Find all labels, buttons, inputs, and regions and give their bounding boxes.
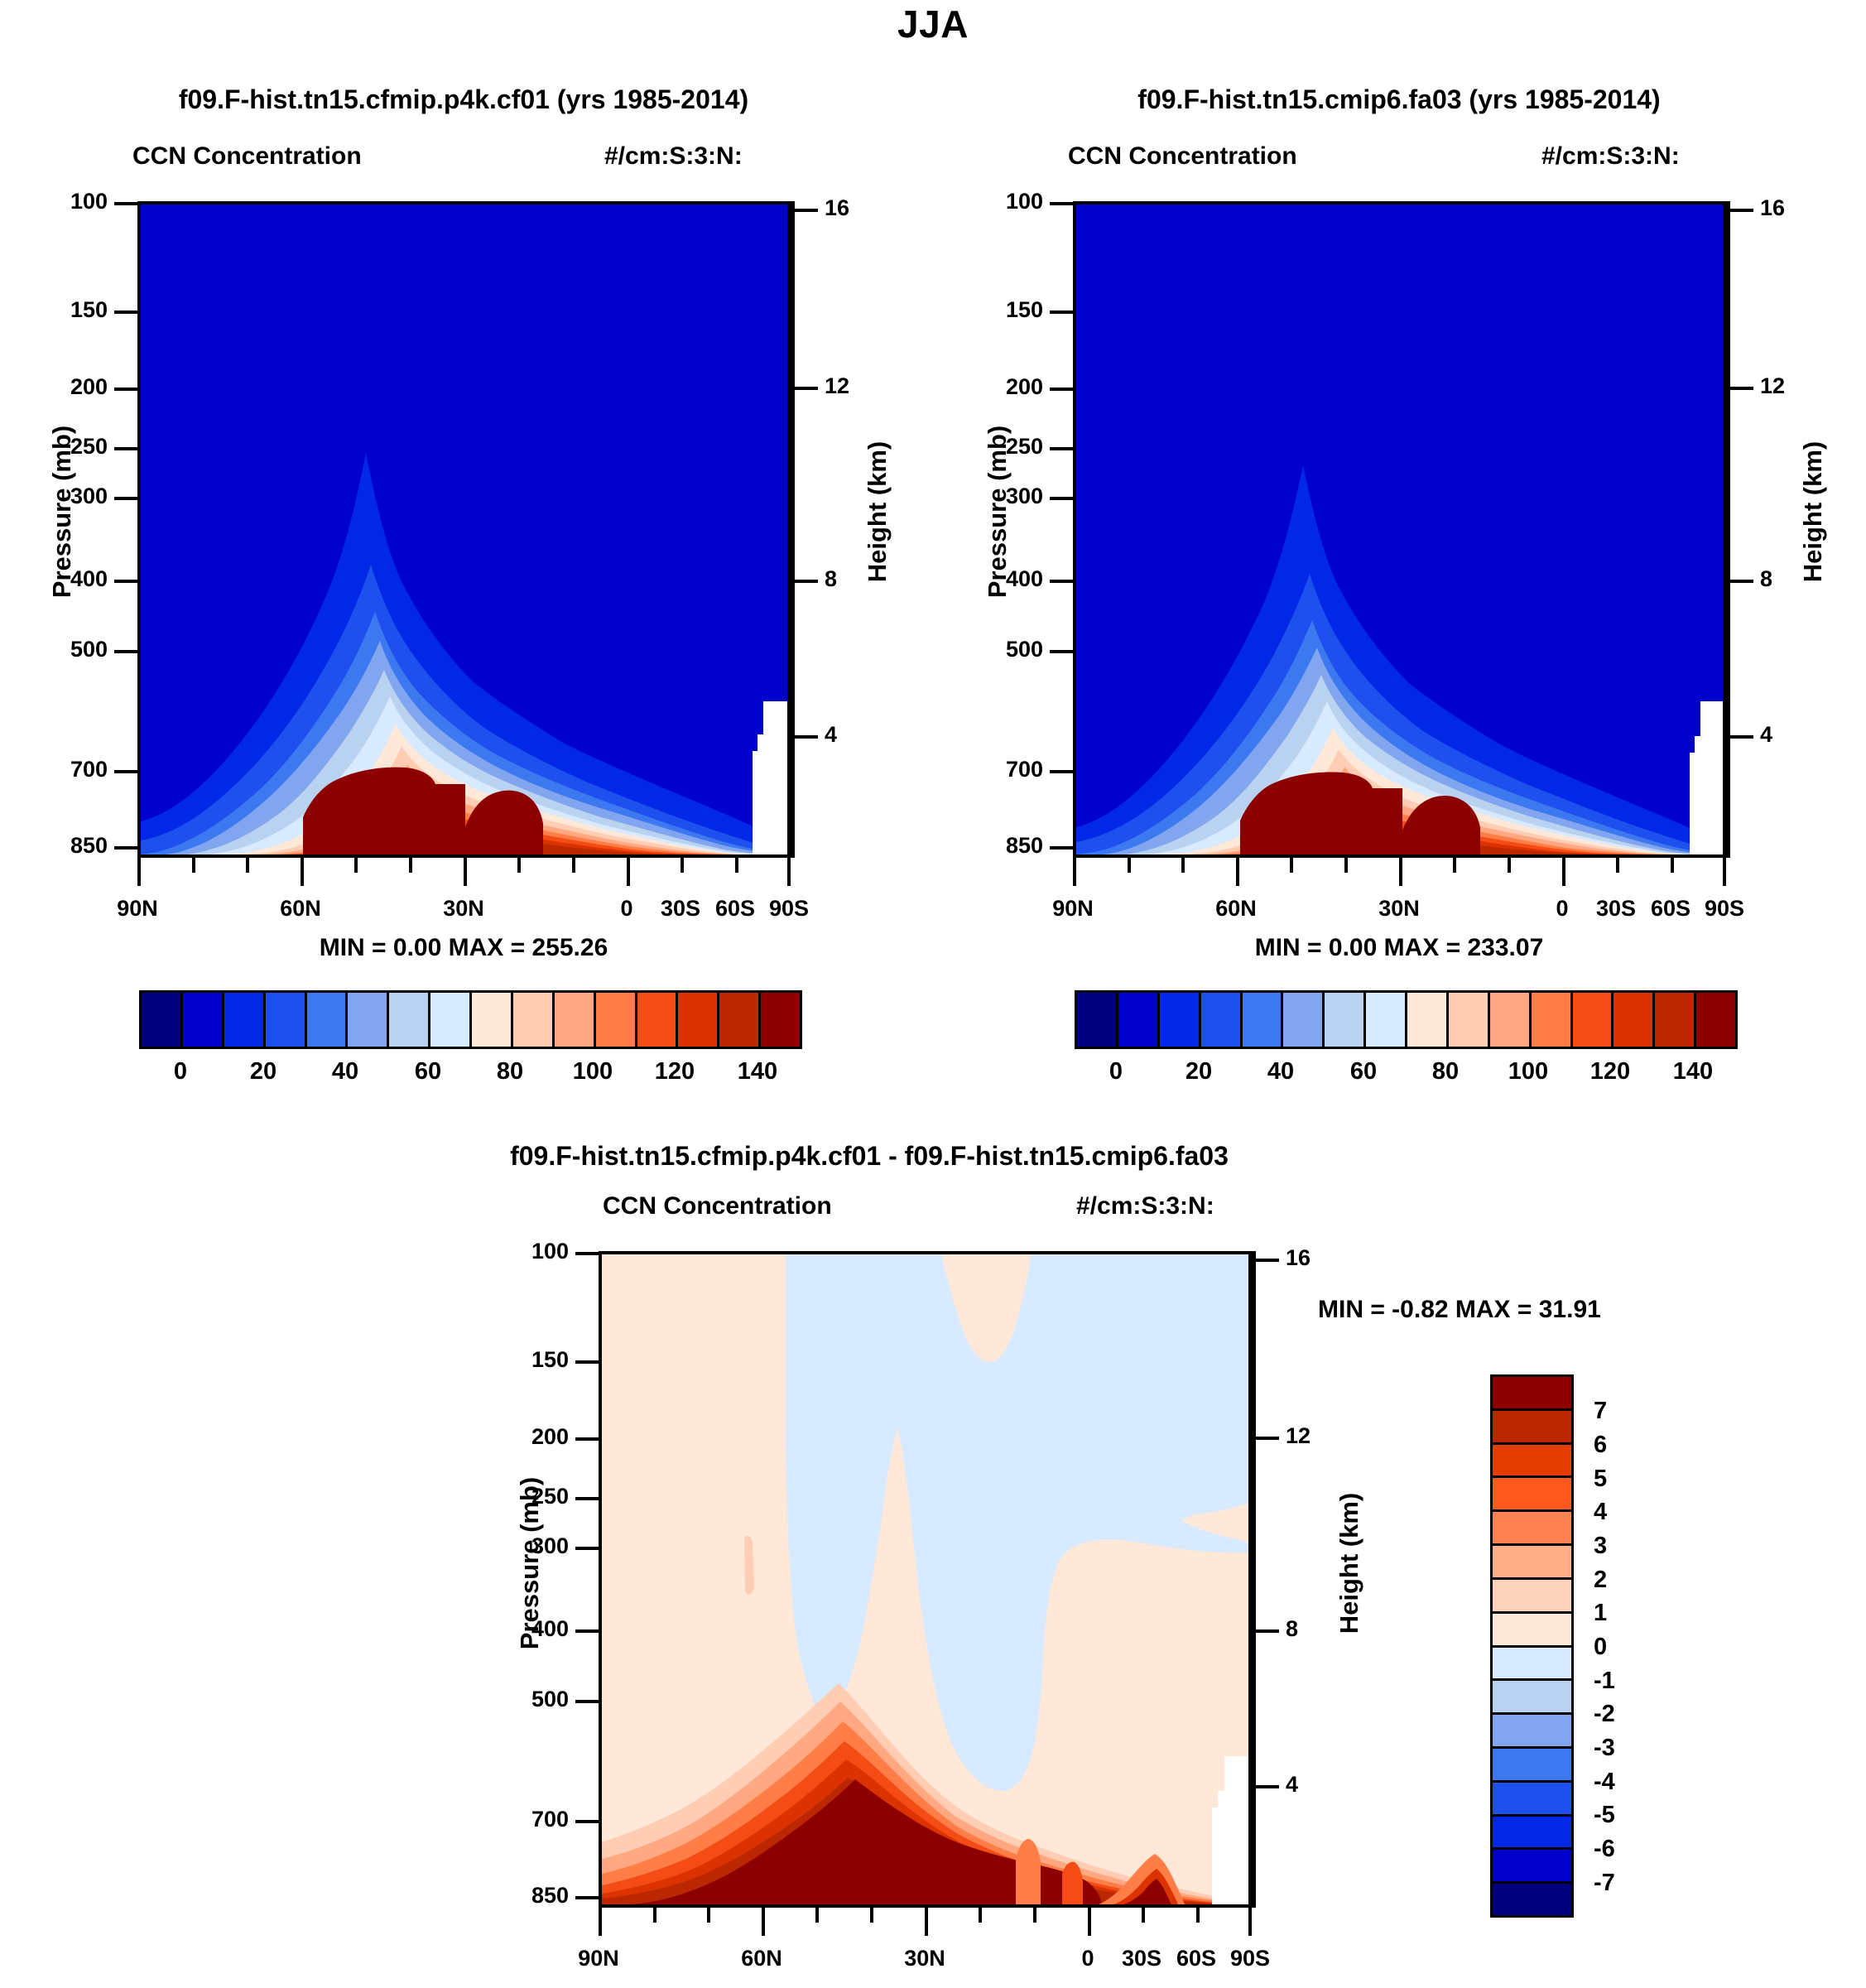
colorbar-top-left[interactable] <box>139 990 802 1049</box>
height-axis-label-top-left: Height (km) <box>863 404 892 619</box>
plot-area-top-left <box>137 201 791 858</box>
panel-title-top-left: f09.F-hist.tn15.cfmip.p4k.cf01 (yrs 1985… <box>0 84 927 115</box>
contour-field-top-left <box>141 205 787 854</box>
units-label-difference: #/cm:S:3:N: <box>1076 1192 1214 1220</box>
variable-label-top-right: CCN Concentration <box>1068 142 1297 171</box>
colorbar-difference[interactable] <box>1490 1374 1574 1918</box>
variable-label-top-left: CCN Concentration <box>132 142 362 171</box>
contour-field-difference <box>602 1254 1248 1904</box>
panel-title-difference: f09.F-hist.tn15.cfmip.p4k.cf01 - f09.F-h… <box>166 1141 1573 1172</box>
plot-area-difference <box>599 1251 1252 1908</box>
panel-title-top-right: f09.F-hist.tn15.cmip6.fa03 (yrs 1985-201… <box>935 84 1863 115</box>
minmax-difference: MIN = -0.82 MAX = 31.91 <box>1318 1296 1601 1324</box>
height-axis-spine-top-right <box>1726 201 1730 858</box>
colorbar-top-right[interactable] <box>1075 990 1738 1049</box>
height-axis-spine-top-left <box>791 201 795 858</box>
minmax-top-right: MIN = 0.00 MAX = 233.07 <box>1068 934 1730 962</box>
height-axis-spine-difference <box>1252 1251 1256 1908</box>
minmax-top-left: MIN = 0.00 MAX = 255.26 <box>132 934 795 962</box>
variable-label-difference: CCN Concentration <box>603 1192 832 1220</box>
height-axis-label-top-right: Height (km) <box>1798 404 1828 619</box>
units-label-top-right: #/cm:S:3:N: <box>1541 142 1680 171</box>
figure-suptitle: JJA <box>0 2 1866 46</box>
height-axis-label-difference: Height (km) <box>1335 1456 1364 1671</box>
plot-area-top-right <box>1073 201 1726 858</box>
units-label-top-left: #/cm:S:3:N: <box>604 142 743 171</box>
contour-field-top-right <box>1076 205 1723 854</box>
figure-canvas: JJA f09.F-hist.tn15.cfmip.p4k.cf01 (yrs … <box>0 0 1866 1988</box>
